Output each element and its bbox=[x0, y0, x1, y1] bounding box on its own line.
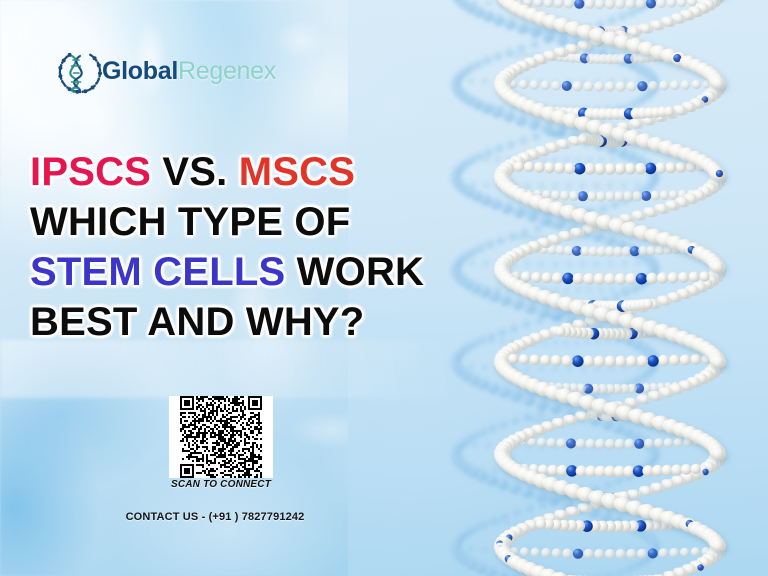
headline-best-and-why: BEST AND WHY? bbox=[30, 300, 364, 344]
headline-which-type-of: WHICH TYPE OF bbox=[30, 200, 350, 244]
brand-name-secondary: Regenex bbox=[178, 57, 276, 85]
headline-work: WORK bbox=[297, 250, 424, 294]
brand-name: GlobalRegenex bbox=[102, 57, 276, 86]
headline-line-1: IPSCS VS. MSCS bbox=[30, 152, 450, 192]
qr-caption: SCAN TO CONNECT bbox=[169, 479, 273, 490]
brand-logo[interactable]: GlobalRegenex bbox=[52, 44, 276, 98]
dna-circle-logo-icon bbox=[52, 44, 108, 98]
headline-line-2: WHICH TYPE OF bbox=[30, 202, 450, 242]
dna-helix-image bbox=[395, 0, 768, 576]
headline-ipscs: IPSCS bbox=[30, 150, 151, 194]
qr-code-icon[interactable] bbox=[169, 396, 273, 478]
headline-line-4: BEST AND WHY? bbox=[30, 302, 450, 342]
contact-line: CONTACT US - (+91 ) 7827791242 bbox=[0, 511, 430, 523]
headline-vs: VS. bbox=[162, 150, 227, 194]
headline: IPSCS VS. MSCS WHICH TYPE OF STEM CELLS … bbox=[30, 152, 450, 352]
headline-stem-cells: STEM CELLS bbox=[30, 250, 285, 294]
headline-line-3: STEM CELLS WORK bbox=[30, 252, 450, 292]
headline-mscs: MSCS bbox=[239, 150, 355, 194]
brand-name-primary: Global bbox=[102, 57, 178, 85]
poster-canvas: GlobalRegenex IPSCS VS. MSCS WHICH TYPE … bbox=[0, 0, 768, 576]
qr-block[interactable]: SCAN TO CONNECT bbox=[169, 396, 273, 490]
